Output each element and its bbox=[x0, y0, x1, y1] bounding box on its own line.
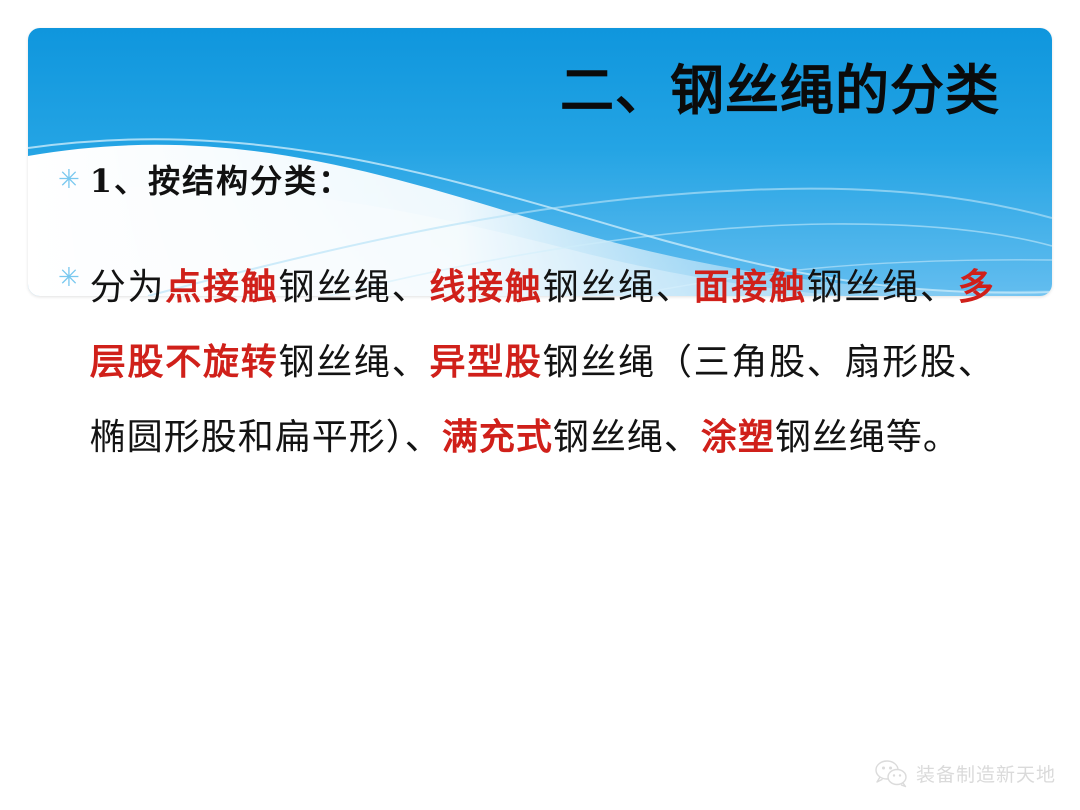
watermark-label: 装备制造新天地 bbox=[916, 760, 1056, 787]
body-row: ✳ 分为点接触钢丝绳、线接触钢丝绳、面接触钢丝绳、多层股不旋转钢丝绳、异型股钢丝… bbox=[58, 250, 1018, 475]
page-title: 二、钢丝绳的分类 bbox=[28, 60, 1052, 120]
paragraph-highlight-term: 点接触 bbox=[165, 266, 278, 308]
paragraph-highlight-term: 满充式 bbox=[442, 416, 553, 458]
asterisk-bullet-icon: ✳ bbox=[58, 250, 80, 306]
paragraph-highlight-term: 涂塑 bbox=[701, 416, 775, 458]
paragraph-text: 钢丝绳、 bbox=[553, 417, 701, 458]
paragraph-text: 钢丝绳、 bbox=[278, 342, 429, 383]
paragraph-text: 分为 bbox=[90, 267, 165, 308]
body-paragraph: 分为点接触钢丝绳、线接触钢丝绳、面接触钢丝绳、多层股不旋转钢丝绳、异型股钢丝绳（… bbox=[90, 250, 995, 475]
paragraph-text: 钢丝绳、 bbox=[807, 267, 958, 308]
wechat-icon bbox=[874, 758, 908, 788]
subheading-label: 1、按结构分类： bbox=[90, 160, 352, 202]
subheading-row: ✳ 1、按结构分类： bbox=[58, 160, 352, 202]
asterisk-bullet-icon: ✳ bbox=[58, 160, 80, 200]
watermark: 装备制造新天地 bbox=[874, 758, 1056, 788]
paragraph-highlight-term: 面接触 bbox=[694, 266, 807, 308]
slide-root: 二、钢丝绳的分类 ✳ 1、按结构分类： ✳ 分为点接触钢丝绳、线接触钢丝绳、面接… bbox=[0, 0, 1080, 810]
paragraph-highlight-term: 线接触 bbox=[429, 266, 542, 308]
paragraph-text: 钢丝绳等。 bbox=[775, 417, 960, 458]
paragraph-highlight-term: 异型股 bbox=[429, 341, 542, 383]
paragraph-text: 钢丝绳、 bbox=[543, 267, 694, 308]
paragraph-text: 钢丝绳、 bbox=[278, 267, 429, 308]
